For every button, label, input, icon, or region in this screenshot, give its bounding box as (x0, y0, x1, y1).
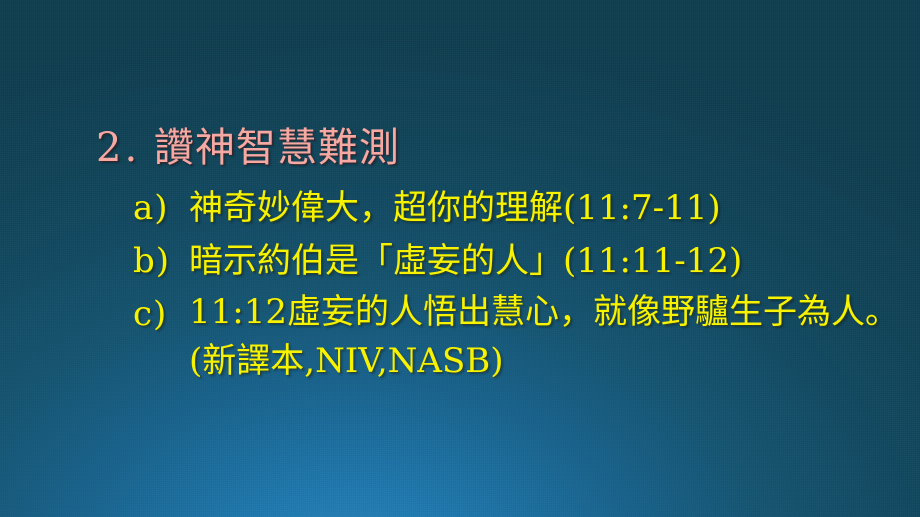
bullet-list: a) 神奇妙偉大，超你的理解(11:7-11) b) 暗示約伯是「虛妄的人」(1… (133, 182, 913, 386)
list-item-text: 神奇妙偉大，超你的理解(11:7-11) (189, 182, 721, 235)
list-item-marker: a) (133, 182, 189, 235)
list-item: b) 暗示約伯是「虛妄的人」(11:11-12) (133, 235, 913, 288)
heading-text: 讚神智慧難測 (154, 125, 400, 171)
slide-heading: 2. 讚神智慧難測 (96, 125, 400, 171)
list-item: c) 11:12虛妄的人悟出慧心，就像野驢生子為人。(新譯本,NIV,NASB) (133, 288, 913, 386)
heading-number: 2. (96, 125, 140, 171)
presentation-slide: 2. 讚神智慧難測 a) 神奇妙偉大，超你的理解(11:7-11) b) 暗示約… (0, 0, 920, 517)
list-item-marker: b) (133, 235, 189, 288)
list-item-marker: c) (133, 288, 189, 341)
list-item-text: 暗示約伯是「虛妄的人」(11:11-12) (189, 235, 742, 288)
list-item-text: 11:12虛妄的人悟出慧心，就像野驢生子為人。(新譯本,NIV,NASB) (189, 288, 905, 386)
list-item: a) 神奇妙偉大，超你的理解(11:7-11) (133, 182, 913, 235)
